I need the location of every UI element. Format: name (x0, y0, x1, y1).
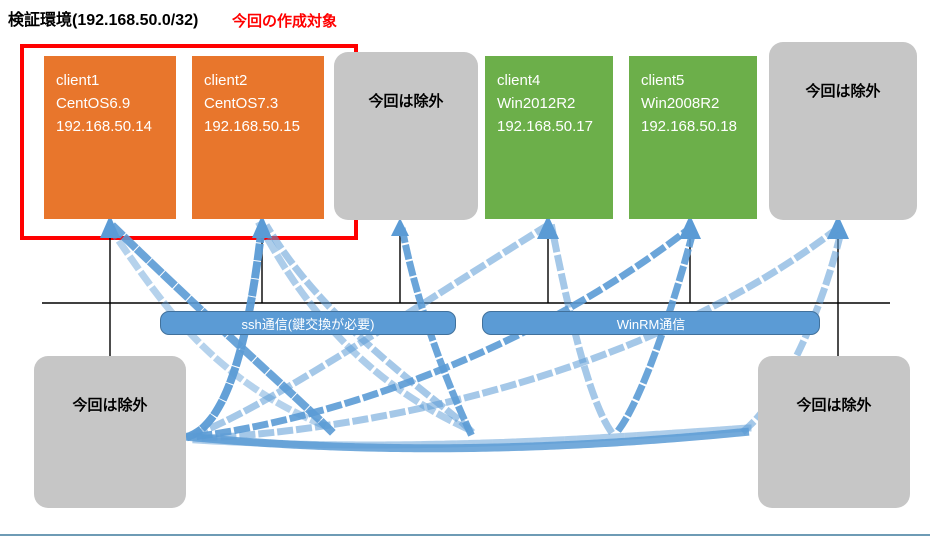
node-excluded-top-right-label: 今回は除外 (769, 80, 917, 101)
node-client1-os: CentOS6.9 (56, 93, 170, 116)
node-client1-ip: 192.168.50.14 (56, 116, 170, 139)
node-excluded-bottom-left-label: 今回は除外 (34, 394, 186, 415)
environment-title: 検証環境(192.168.50.0/32) (8, 6, 198, 30)
node-client2-name: client2 (204, 70, 318, 93)
creation-target-title: 今回の作成対象 (232, 10, 337, 31)
pill-winrm[interactable]: WinRM通信 (482, 311, 820, 335)
node-client5-text: client5 Win2008R2 192.168.50.18 (641, 70, 751, 138)
diagram-canvas: 検証環境(192.168.50.0/32) 今回の作成対象 (0, 0, 930, 540)
node-client4-text: client4 Win2012R2 192.168.50.17 (497, 70, 607, 138)
node-client2-os: CentOS7.3 (204, 93, 318, 116)
node-client5-ip: 192.168.50.18 (641, 116, 751, 139)
node-excluded-top-left[interactable]: 今回は除外 (334, 52, 478, 220)
node-excluded-top-right[interactable]: 今回は除外 (769, 42, 917, 220)
node-client1-text: client1 CentOS6.9 192.168.50.14 (56, 70, 170, 138)
bottom-divider (0, 534, 930, 536)
node-client4-name: client4 (497, 70, 607, 93)
node-client2-text: client2 CentOS7.3 192.168.50.15 (204, 70, 318, 138)
node-client1-name: client1 (56, 70, 170, 93)
node-excluded-bottom-left[interactable]: 今回は除外 (34, 356, 186, 508)
node-client4-os: Win2012R2 (497, 93, 607, 116)
node-client2[interactable]: client2 CentOS7.3 192.168.50.15 (192, 56, 324, 219)
node-excluded-bottom-right-label: 今回は除外 (758, 394, 910, 415)
communication-curves (110, 225, 842, 448)
pill-ssh[interactable]: ssh通信(鍵交換が必要) (160, 311, 456, 335)
node-client1[interactable]: client1 CentOS6.9 192.168.50.14 (44, 56, 176, 219)
node-client5[interactable]: client5 Win2008R2 192.168.50.18 (629, 56, 757, 219)
node-client4[interactable]: client4 Win2012R2 192.168.50.17 (485, 56, 613, 219)
node-excluded-top-left-label: 今回は除外 (334, 90, 478, 111)
pill-ssh-label: ssh通信(鍵交換が必要) (242, 314, 375, 333)
node-client4-ip: 192.168.50.17 (497, 116, 607, 139)
node-client5-name: client5 (641, 70, 751, 93)
node-excluded-bottom-right[interactable]: 今回は除外 (758, 356, 910, 508)
pill-winrm-label: WinRM通信 (617, 314, 686, 333)
node-client2-ip: 192.168.50.15 (204, 116, 318, 139)
node-client5-os: Win2008R2 (641, 93, 751, 116)
